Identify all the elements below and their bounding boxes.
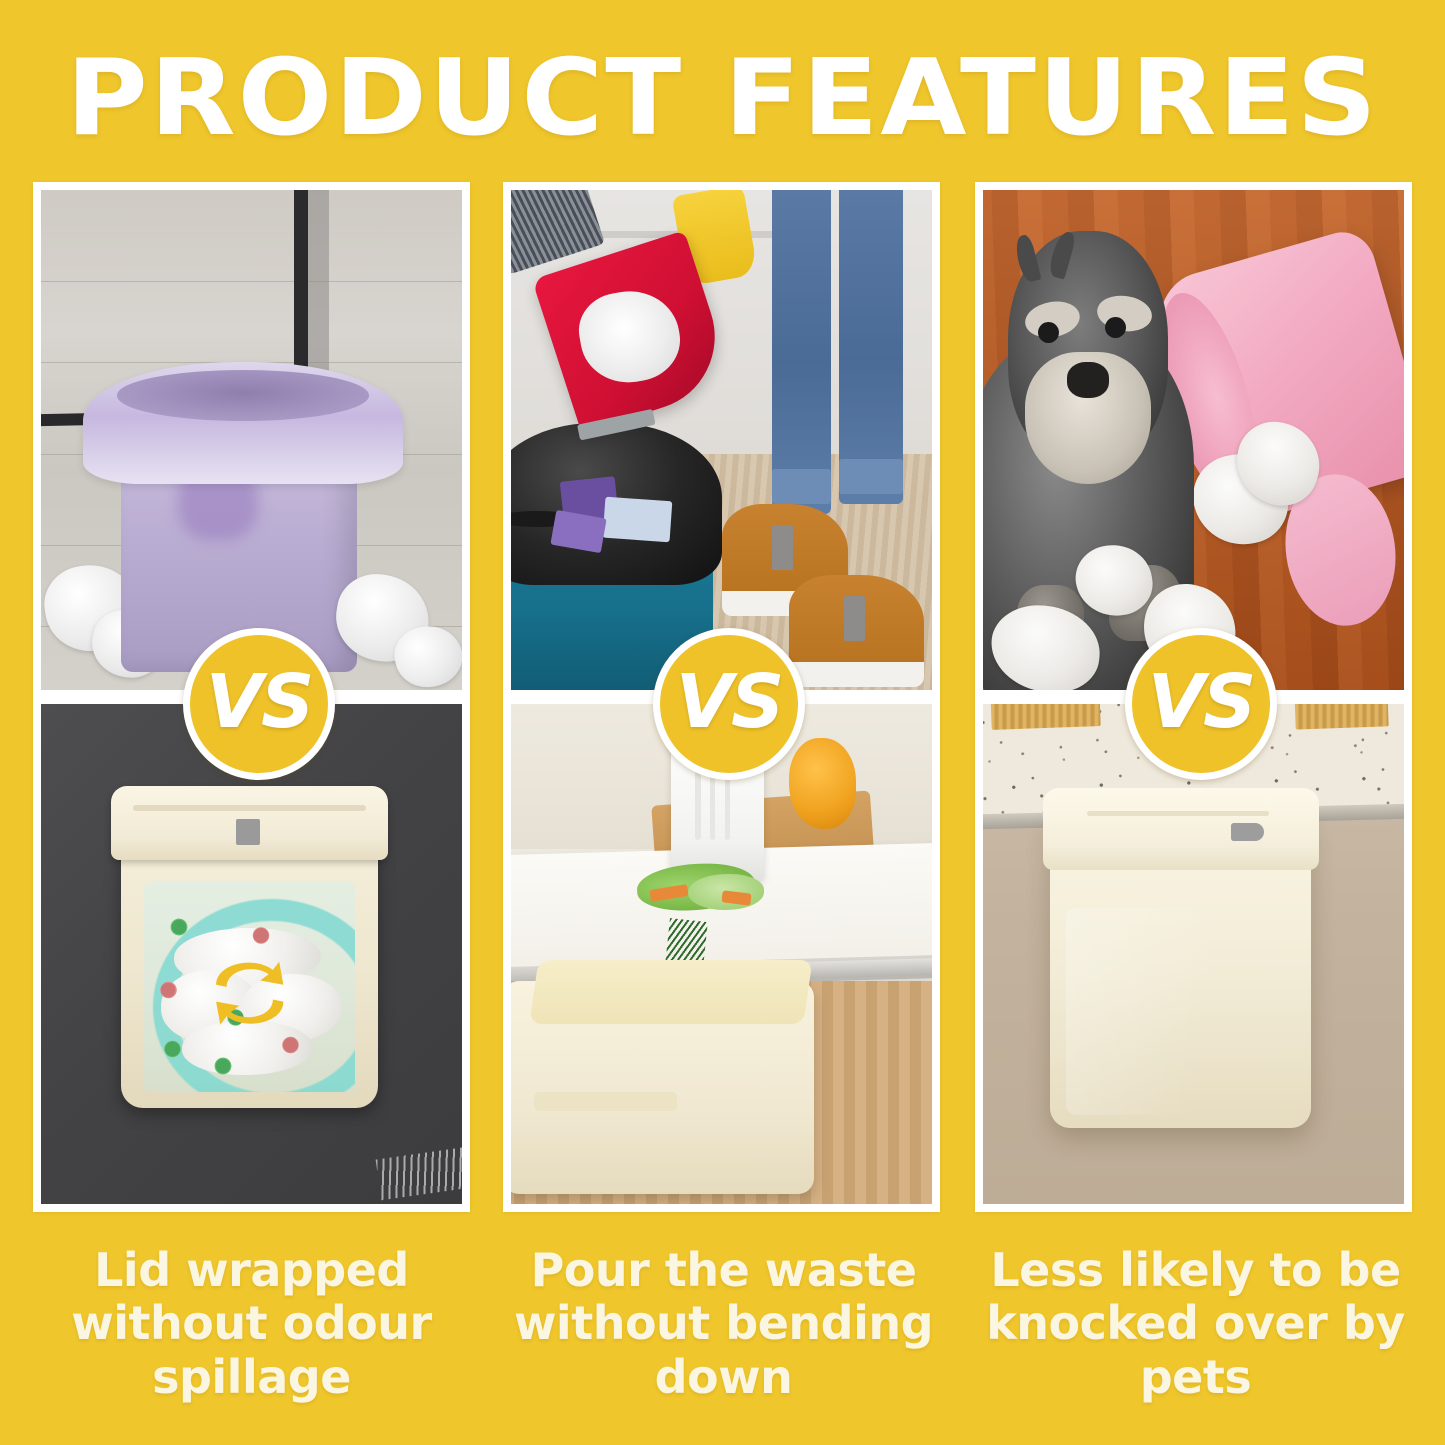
waste-packet — [602, 497, 672, 542]
shoe-sole — [789, 662, 924, 687]
germ-icon — [153, 974, 185, 1006]
panel-2-problem-image — [511, 190, 932, 697]
odour-containment-view — [144, 882, 355, 1092]
caption-panel-2: Pour the waste without bending down — [505, 1244, 942, 1404]
cream-hanging-bin — [1050, 814, 1311, 1128]
vs-badge-label: VS — [1148, 665, 1255, 739]
feature-panels: VS — [33, 182, 1412, 1212]
vs-badge-3: VS — [1125, 628, 1277, 780]
caption-panel-3: Less likely to be knocked over by pets — [977, 1244, 1414, 1404]
panel-3-problem-image — [983, 190, 1404, 697]
panel-3-images: VS — [983, 190, 1404, 1204]
shoe-tab — [844, 596, 865, 642]
cream-hanging-bin — [121, 798, 378, 1107]
vs-badge-label: VS — [676, 665, 783, 739]
person-leg — [772, 190, 831, 514]
recycle-arrows-icon — [195, 949, 304, 1037]
feature-panel-1[interactable]: VS — [33, 182, 470, 1212]
page-title: PRODUCT FEATURES — [0, 46, 1445, 151]
germ-icon — [207, 1050, 239, 1082]
panel-1-problem-image — [41, 190, 462, 697]
cream-hanging-bin — [511, 981, 814, 1194]
germ-icon — [245, 920, 277, 952]
bag-opening — [117, 370, 370, 421]
panel-2-images: VS — [511, 190, 932, 1204]
feature-panel-3[interactable]: VS — [975, 182, 1412, 1212]
jeans-cuff — [772, 469, 831, 504]
vs-badge-1: VS — [183, 628, 335, 780]
bell-pepper — [789, 738, 856, 829]
jeans-cuff — [839, 459, 902, 494]
dog-nose — [1067, 362, 1109, 397]
caption-panel-1: Lid wrapped without odour spillage — [33, 1244, 470, 1404]
panel-1-images: VS — [41, 190, 462, 1204]
vs-badge-label: VS — [206, 665, 313, 739]
shoe-tab — [772, 525, 793, 571]
feature-captions: Lid wrapped without odour spillage Pour … — [0, 1244, 1445, 1434]
dog-eye — [1105, 317, 1126, 338]
feature-panel-2[interactable]: VS — [503, 182, 940, 1212]
bin-lid — [1043, 788, 1320, 870]
dog-eye — [1038, 322, 1059, 343]
infographic-stage: PRODUCT FEATURES — [0, 0, 1445, 1445]
germ-icon — [163, 911, 195, 943]
germ-icon — [157, 1033, 189, 1065]
person-leg — [839, 190, 902, 504]
vs-badge-2: VS — [653, 628, 805, 780]
bin-lid — [111, 786, 388, 860]
lid-latch — [1231, 823, 1264, 841]
